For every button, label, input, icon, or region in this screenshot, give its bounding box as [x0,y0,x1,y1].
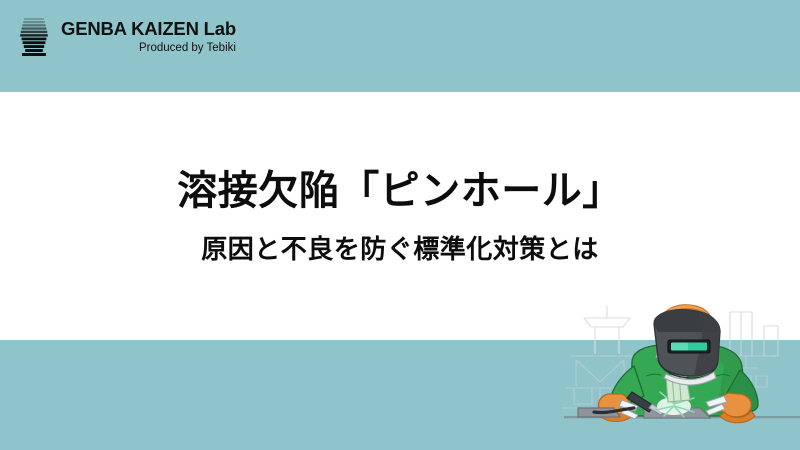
stacked-bars-icon [16,18,52,56]
logo-title: GENBA KAIZEN Lab [61,20,236,39]
slide-canvas: GENBA KAIZEN Lab Produced by Tebiki 溶接欠陥… [0,0,800,450]
welder-at-workbench-illustration [548,296,800,450]
logo-subtitle: Produced by Tebiki [139,43,236,55]
logo-wordmark: GENBA KAIZEN Lab Produced by Tebiki [61,20,236,55]
title-block: 溶接欠陥「ピンホール」 原因と不良を防ぐ標準化対策とは [0,168,800,265]
brand-logo: GENBA KAIZEN Lab Produced by Tebiki [16,18,236,56]
page-subtitle: 原因と不良を防ぐ標準化対策とは [0,234,800,265]
page-title: 溶接欠陥「ピンホール」 [0,168,800,214]
